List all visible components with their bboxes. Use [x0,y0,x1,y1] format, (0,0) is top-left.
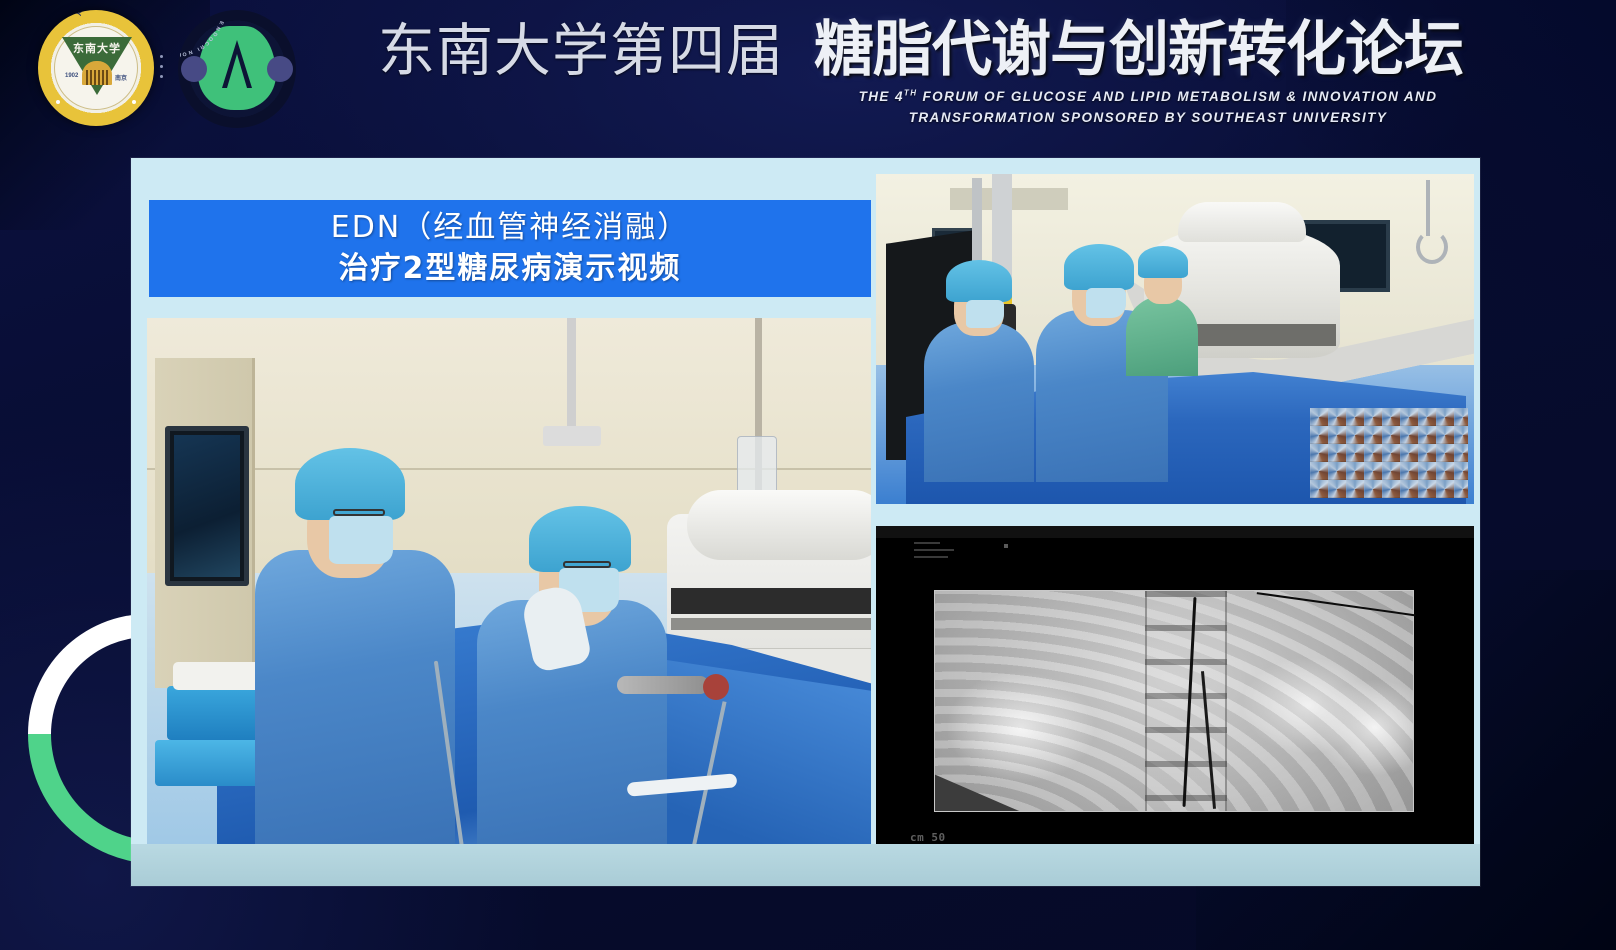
xray-osd-dot [1004,544,1008,548]
hospital-endocrinology-logo: ENDOCRINOLOGY DEPARTMENT OF ZD HOSPITAL [178,10,296,128]
subtitle-ordinal: TH [904,89,917,98]
tr-detector-top-cover [1178,202,1306,242]
or-machine-head [687,490,871,560]
event-title-secondary: 糖脂代谢与创新转化论坛 [814,20,1463,80]
hospital-ring-text: ENDOCRINOLOGY DEPARTMENT OF ZD HOSPITAL [178,10,296,128]
or-wall-monitor-icon [165,426,249,586]
subtitle-line-2: TRANSFORMATION SPONSORED BY SOUTHEAST UN… [798,108,1498,129]
or-tool-tip [703,674,729,700]
surgeon-face-mask [329,516,393,564]
tr-pixelated-privacy-mask [1310,408,1468,498]
seal-building-icon [82,61,112,85]
slide-bottom-strip [131,844,1480,886]
slide-title-line-2: 治疗2型糖尿病演示视频 [339,249,682,290]
seal-inner-disc: 东南大学 1902 南京 [54,26,138,110]
seal-year-left: 1902 [65,73,78,79]
event-subtitle-english: THE 4TH FORUM OF GLUCOSE AND LIPID METAB… [798,87,1498,129]
presentation-slide[interactable]: EDN（经血管神经消融） 治疗2型糖尿病演示视频 [131,158,1480,886]
tr-surgeon-figure-1 [924,272,1034,482]
event-title-primary: 东南大学第四届 [378,23,784,80]
or-gauze-pack [173,662,265,690]
seal-dot-right [132,100,136,104]
event-header: SOUTHEAST UNIVERSITY 东南大学 1902 南京 ENDOCR… [0,0,1616,152]
surgeon-glasses-icon [333,509,385,516]
southeast-university-seal-logo: SOUTHEAST UNIVERSITY 东南大学 1902 南京 [38,10,154,126]
xray-top-bar [876,526,1474,538]
subtitle-pre: THE 4 [859,89,904,104]
surgeon-surgical-cap [1064,244,1134,290]
observer-gown [1126,296,1198,376]
or-machine-grey-band [671,618,871,630]
seal-dot-left [56,100,60,104]
surgeon-glasses-icon [563,561,611,568]
or-ceiling-arm [567,318,576,438]
seal-year-right: 南京 [115,73,127,82]
surgeon-gown [924,322,1034,482]
event-title-block: 东南大学第四届 糖脂代谢与创新转化论坛 THE 4TH FORUM OF GLU… [378,20,1558,146]
xray-osd-tickmarks [914,542,970,570]
xray-osd-distance: cm 50 [910,831,960,845]
surgeon-face-mask [966,300,1004,328]
seal-hanzi-label: 东南大学 [55,40,139,56]
presentation-stage: SOUTHEAST UNIVERSITY 东南大学 1902 南京 ENDOCR… [0,0,1616,950]
observer-cap [1138,246,1188,278]
fluoroscopy-xray-panel: cm 50 0° / 0° [876,526,1474,868]
operating-room-wide-photo [147,318,871,850]
or-ceiling-light-box [543,426,601,446]
c-arm-fluoroscopy-photo [876,174,1474,504]
tr-observer-figure [1126,256,1198,376]
surgeon-gown [255,550,455,850]
slide-title-banner: EDN（经血管神经消融） 治疗2型糖尿病演示视频 [149,200,871,297]
surgeon-figure-primary [255,450,455,850]
xray-image [934,590,1414,812]
surgeon-face-mask [1086,288,1126,318]
surgeon-surgical-cap [946,260,1012,302]
or-surgical-tool [617,676,709,694]
slide-title-line-1: EDN（经血管神经消融） [331,208,690,249]
logo-separator-dots [160,55,163,85]
subtitle-post: FORUM OF GLUCOSE AND LIPID METABOLISM & … [917,89,1437,104]
or-machine-dark-band [671,588,871,614]
